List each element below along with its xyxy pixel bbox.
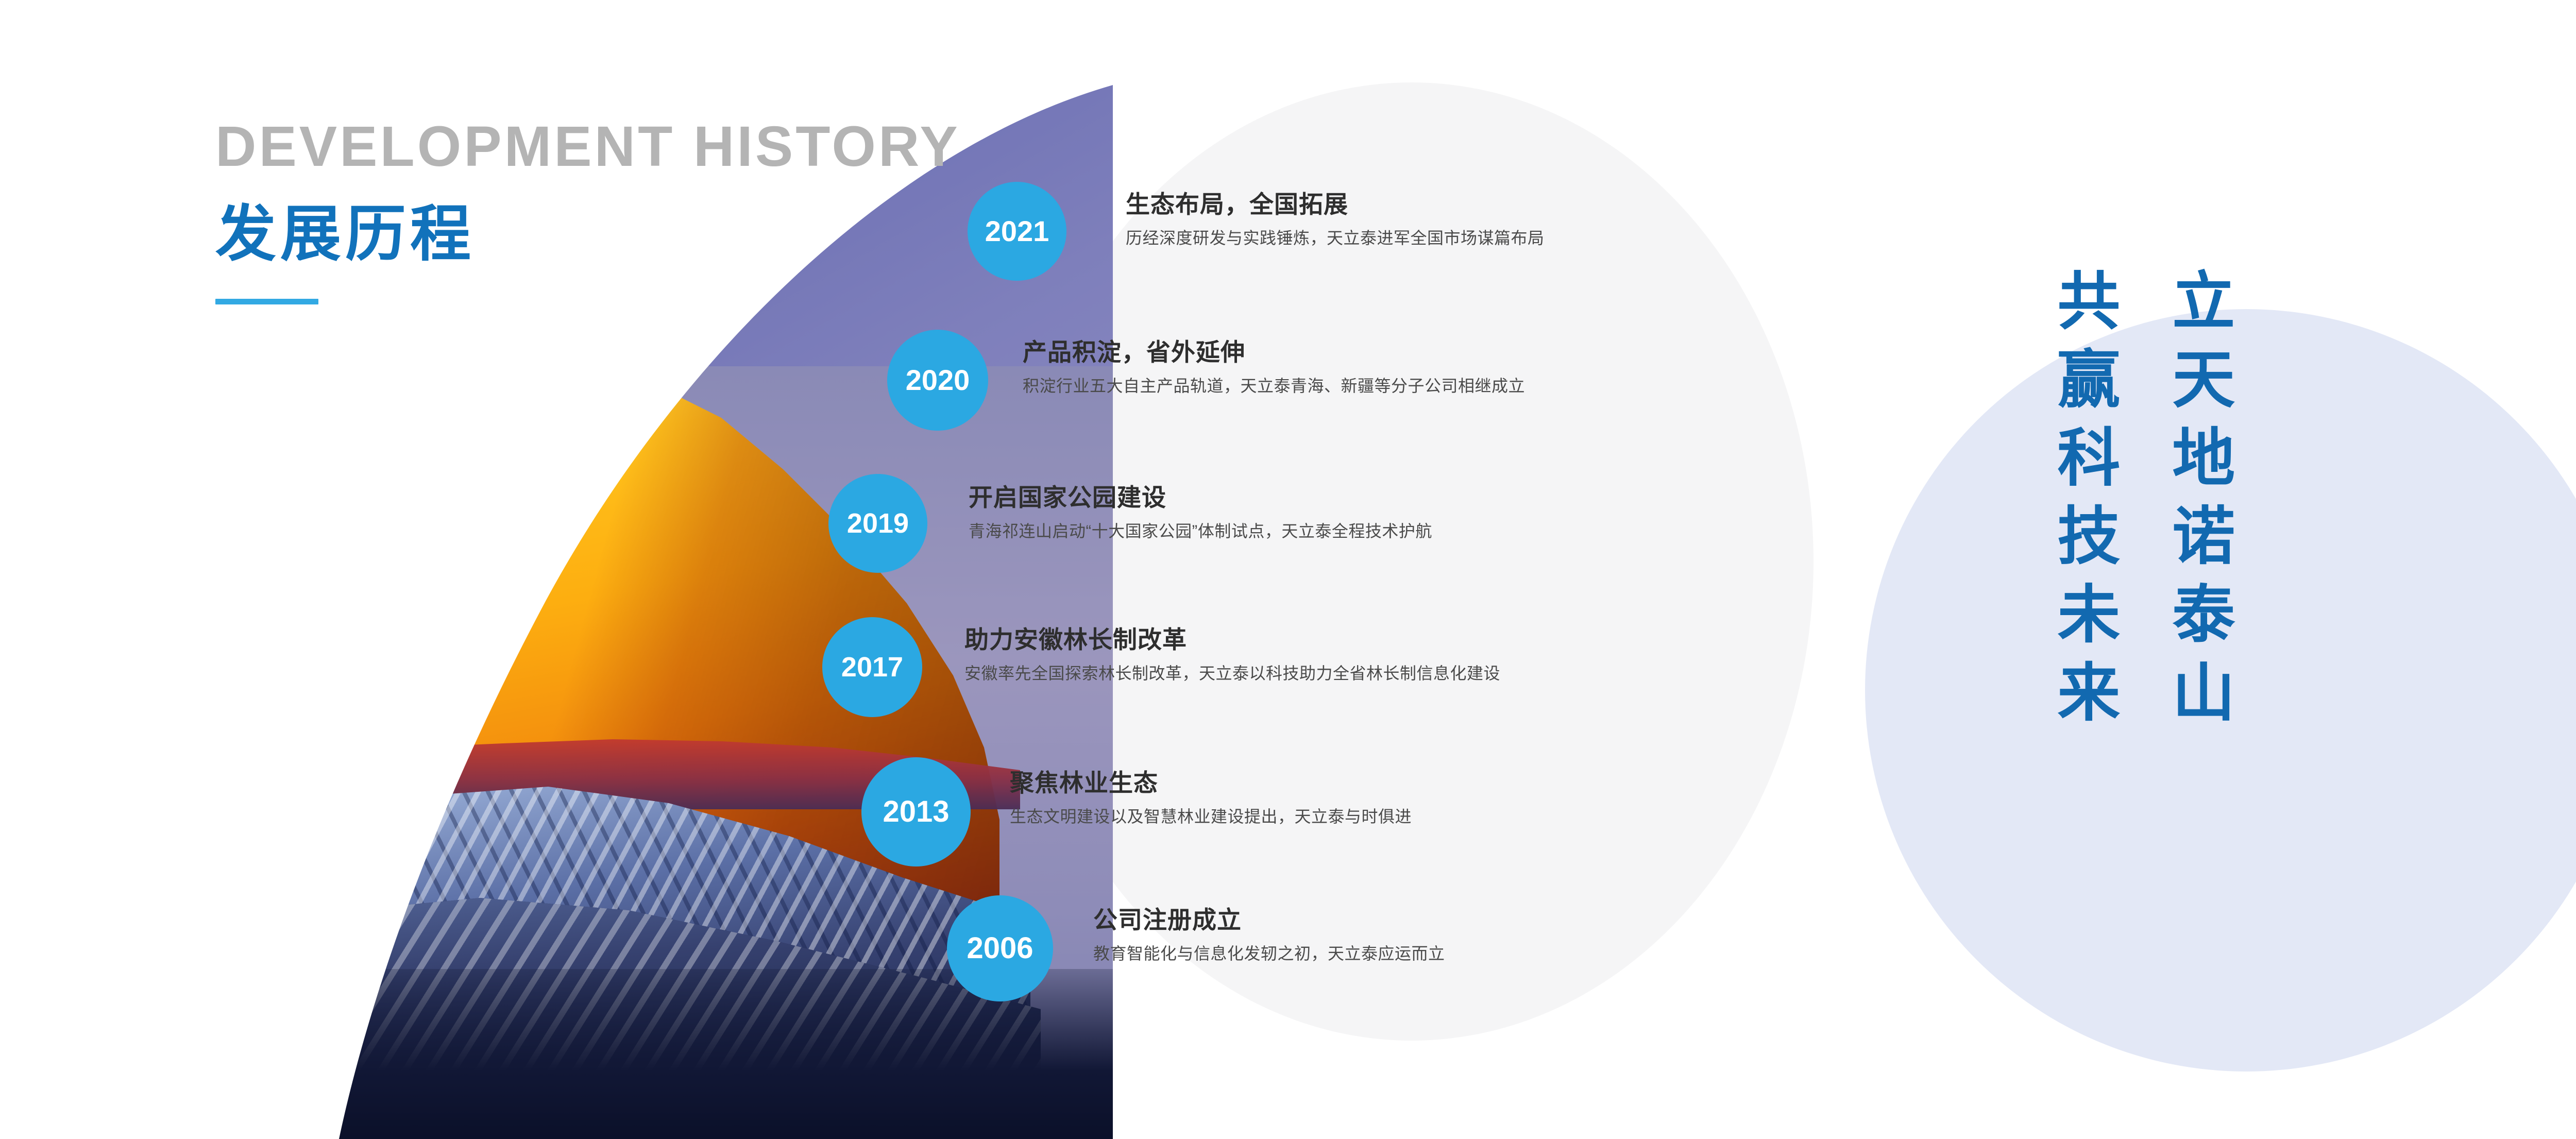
timeline-year-badge-2006[interactable]: 2006 (947, 895, 1053, 1001)
timeline-desc: 教育智能化与信息化发轫之初，天立泰应运而立 (1093, 945, 1445, 962)
timeline-year-label: 2013 (883, 797, 949, 827)
timeline-year-badge-2021[interactable]: 2021 (968, 182, 1066, 281)
timeline-text-2021: 生态布局，全国拓展 历经深度研发与实践锤炼，天立泰进军全国市场谋篇布局 (1126, 192, 1545, 246)
vertical-slogan: 共赢科技未来 立天地诺泰山 (2050, 268, 2576, 738)
timeline-text-2020: 产品积淀，省外延伸 积淀行业五大自主产品轨道，天立泰青海、新疆等分子公司相继成立 (1023, 340, 1525, 394)
timeline-year-label: 2021 (985, 217, 1049, 246)
timeline-desc: 生态文明建设以及智慧林业建设提出，天立泰与时俱进 (1010, 808, 1412, 825)
timeline-year-label: 2020 (906, 366, 970, 395)
timeline-year-badge-2019[interactable]: 2019 (828, 474, 927, 573)
timeline-title: 助力安徽林长制改革 (964, 627, 1500, 652)
timeline-year-badge-2013[interactable]: 2013 (861, 757, 971, 866)
timeline-text-2006: 公司注册成立 教育智能化与信息化发轫之初，天立泰应运而立 (1093, 908, 1445, 962)
timeline-text-2017: 助力安徽林长制改革 安徽率先全国探索林长制改革，天立泰以科技助力全省林长制信息化… (964, 627, 1500, 682)
timeline-title: 聚焦林业生态 (1010, 771, 1412, 795)
slide-canvas: DEVELOPMENT HISTORY 发展历程 2021 生态布局，全国拓展 … (0, 0, 2576, 1139)
timeline-text-2019: 开启国家公园建设 青海祁连山启动“十大国家公园”体制试点，天立泰全程技术护航 (969, 485, 1432, 539)
timeline-title: 生态布局，全国拓展 (1126, 192, 1545, 216)
slogan-column-right: 立天地诺泰山 (2165, 268, 2231, 738)
timeline-year-badge-2020[interactable]: 2020 (887, 330, 988, 431)
timeline-year-badge-2017[interactable]: 2017 (822, 617, 922, 717)
slogan-column-left: 共赢科技未来 (2050, 268, 2116, 738)
timeline-desc: 青海祁连山启动“十大国家公园”体制试点，天立泰全程技术护航 (969, 523, 1432, 539)
timeline-desc: 历经深度研发与实践锤炼，天立泰进军全国市场谋篇布局 (1126, 230, 1545, 246)
timeline-year-label: 2019 (847, 509, 909, 537)
timeline-desc: 安徽率先全国探索林长制改革，天立泰以科技助力全省林长制信息化建设 (964, 665, 1500, 682)
timeline-year-label: 2017 (841, 653, 903, 681)
timeline-desc: 积淀行业五大自主产品轨道，天立泰青海、新疆等分子公司相继成立 (1023, 378, 1525, 394)
timeline-year-label: 2006 (967, 933, 1033, 963)
timeline-title: 公司注册成立 (1093, 908, 1445, 932)
timeline-title: 开启国家公园建设 (969, 485, 1432, 509)
timeline-title: 产品积淀，省外延伸 (1023, 340, 1525, 364)
timeline-text-2013: 聚焦林业生态 生态文明建设以及智慧林业建设提出，天立泰与时俱进 (1010, 771, 1412, 825)
